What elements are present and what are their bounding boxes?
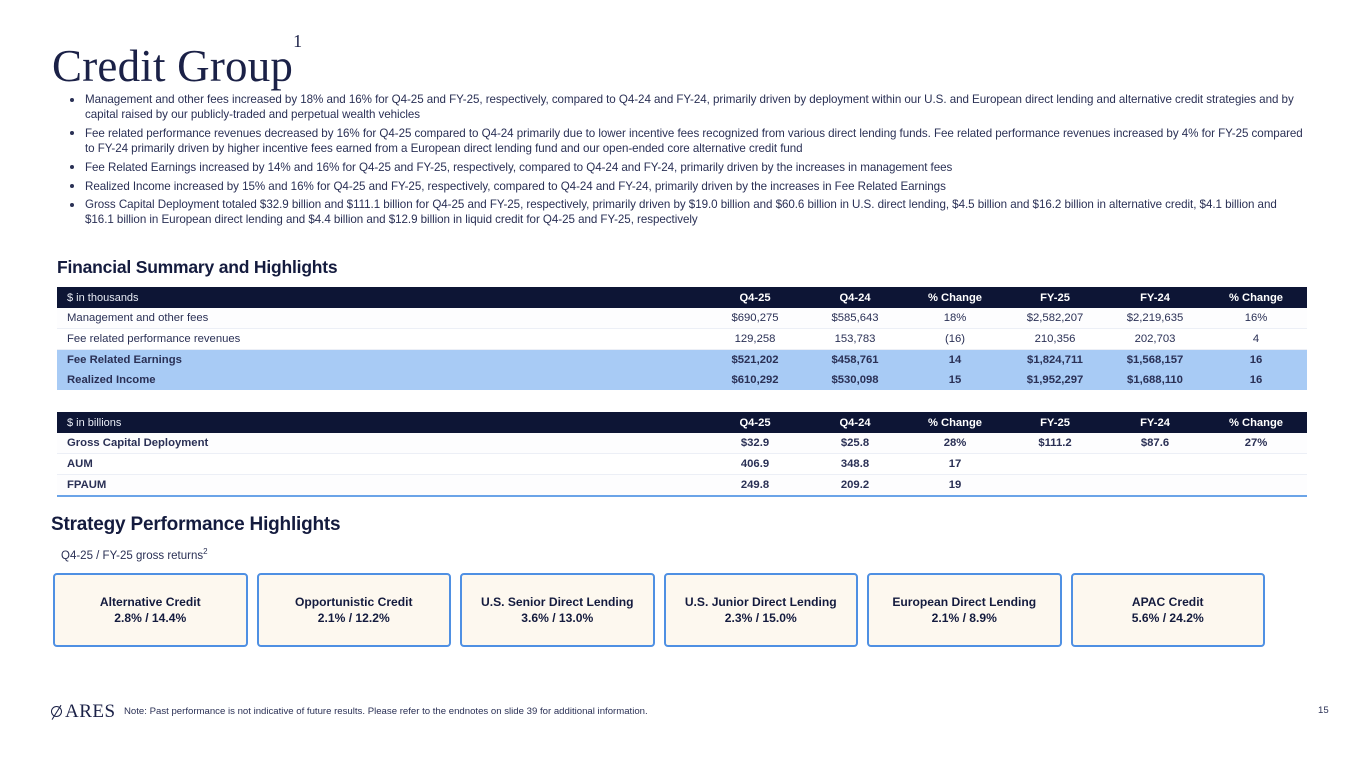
- strategy-card[interactable]: Opportunistic Credit 2.1% / 12.2%: [257, 573, 452, 647]
- strategy-card-returns: 2.8% / 14.4%: [114, 610, 186, 626]
- subtitle-superscript: 2: [203, 547, 207, 556]
- cell: $111.2: [1005, 433, 1105, 454]
- strategy-card[interactable]: Alternative Credit 2.8% / 14.4%: [53, 573, 248, 647]
- cell: $1,688,110: [1105, 370, 1205, 390]
- strategy-card[interactable]: U.S. Senior Direct Lending 3.6% / 13.0%: [460, 573, 655, 647]
- column-header: % Change: [1205, 412, 1307, 433]
- strategy-card-name: U.S. Junior Direct Lending: [685, 594, 837, 610]
- bullet-text: Fee related performance revenues decreas…: [85, 127, 1303, 155]
- bullet-dot-icon: [70, 98, 74, 102]
- cell: [1005, 454, 1105, 475]
- cell: 16: [1205, 350, 1307, 371]
- bullet-dot-icon: [70, 131, 74, 135]
- table-row: Gross Capital Deployment $32.9 $25.8 28%…: [57, 433, 1307, 454]
- financial-summary-table-thousands: $ in thousands Q4-25 Q4-24 % Change FY-2…: [57, 287, 1307, 390]
- cell: $530,098: [805, 370, 905, 390]
- column-header: Q4-25: [705, 412, 805, 433]
- row-label: FPAUM: [57, 475, 705, 497]
- column-header: FY-24: [1105, 412, 1205, 433]
- cell: 16%: [1205, 308, 1307, 329]
- row-label: Realized Income: [57, 370, 705, 390]
- cell: 406.9: [705, 454, 805, 475]
- cell: $1,824,711: [1005, 350, 1105, 371]
- bullet-text: Management and other fees increased by 1…: [85, 93, 1294, 121]
- table-unit-label: $ in thousands: [57, 287, 705, 308]
- cell: 28%: [905, 433, 1005, 454]
- cell: $1,952,297: [1005, 370, 1105, 390]
- cell: $32.9: [705, 433, 805, 454]
- cell: 210,356: [1005, 329, 1105, 350]
- strategy-card-name: Opportunistic Credit: [295, 594, 413, 610]
- cell: 153,783: [805, 329, 905, 350]
- column-header: FY-24: [1105, 287, 1205, 308]
- cell: 14: [905, 350, 1005, 371]
- financial-summary-table-billions: $ in billions Q4-25 Q4-24 % Change FY-25…: [57, 412, 1307, 497]
- bullet-text: Fee Related Earnings increased by 14% an…: [85, 161, 952, 174]
- strategy-card[interactable]: APAC Credit 5.6% / 24.2%: [1071, 573, 1266, 647]
- strategy-performance-heading: Strategy Performance Highlights: [51, 514, 340, 536]
- cell: 202,703: [1105, 329, 1205, 350]
- bullet-dot-icon: [70, 165, 74, 169]
- cell: 19: [905, 475, 1005, 497]
- cell: $690,275: [705, 308, 805, 329]
- cell: 27%: [1205, 433, 1307, 454]
- strategy-card-returns: 2.1% / 12.2%: [318, 610, 390, 626]
- table-row: Realized Income $610,292 $530,098 15 $1,…: [57, 370, 1307, 390]
- column-header: Q4-24: [805, 412, 905, 433]
- cell: 18%: [905, 308, 1005, 329]
- table-header-row: $ in thousands Q4-25 Q4-24 % Change FY-2…: [57, 287, 1307, 308]
- strategy-card-name: U.S. Senior Direct Lending: [481, 594, 634, 610]
- column-header: % Change: [905, 412, 1005, 433]
- row-label: Fee Related Earnings: [57, 350, 705, 371]
- page-title-text: Credit Group: [52, 41, 293, 91]
- strategy-card-returns: 5.6% / 24.2%: [1132, 610, 1204, 626]
- cell: $25.8: [805, 433, 905, 454]
- column-header: % Change: [1205, 287, 1307, 308]
- cell: [1205, 454, 1307, 475]
- list-item: Fee Related Earnings increased by 14% an…: [68, 160, 1308, 175]
- column-header: Q4-24: [805, 287, 905, 308]
- list-item: Gross Capital Deployment totaled $32.9 b…: [68, 197, 1308, 227]
- cell: 249.8: [705, 475, 805, 497]
- slide: Credit Group1 Management and other fees …: [0, 0, 1365, 768]
- cell: $2,219,635: [1105, 308, 1205, 329]
- ares-logo-text: ARES: [65, 701, 116, 723]
- bullet-text: Realized Income increased by 15% and 16%…: [85, 180, 946, 193]
- column-header: % Change: [905, 287, 1005, 308]
- table-row: Fee Related Earnings $521,202 $458,761 1…: [57, 350, 1307, 371]
- cell: $458,761: [805, 350, 905, 371]
- table-row: AUM 406.9 348.8 17: [57, 454, 1307, 475]
- list-item: Realized Income increased by 15% and 16%…: [68, 179, 1308, 194]
- page-title-superscript: 1: [293, 31, 302, 51]
- bullet-list: Management and other fees increased by 1…: [68, 92, 1308, 231]
- strategy-card-returns: 2.3% / 15.0%: [725, 610, 797, 626]
- cell: 15: [905, 370, 1005, 390]
- row-label: Management and other fees: [57, 308, 705, 329]
- page-number: 15: [1318, 705, 1329, 716]
- cell: [1005, 475, 1105, 497]
- cell: [1205, 475, 1307, 497]
- table-row: Management and other fees $690,275 $585,…: [57, 308, 1307, 329]
- cell: $610,292: [705, 370, 805, 390]
- list-item: Management and other fees increased by 1…: [68, 92, 1308, 122]
- cell: $1,568,157: [1105, 350, 1205, 371]
- list-item: Fee related performance revenues decreas…: [68, 126, 1308, 156]
- bullet-text: Gross Capital Deployment totaled $32.9 b…: [85, 198, 1277, 226]
- cell: $2,582,207: [1005, 308, 1105, 329]
- strategy-card-returns: 3.6% / 13.0%: [521, 610, 593, 626]
- row-label: Fee related performance revenues: [57, 329, 705, 350]
- strategy-card[interactable]: U.S. Junior Direct Lending 2.3% / 15.0%: [664, 573, 859, 647]
- page-title: Credit Group1: [52, 33, 302, 92]
- column-header: FY-25: [1005, 412, 1105, 433]
- bullet-dot-icon: [70, 203, 74, 207]
- cell: $87.6: [1105, 433, 1205, 454]
- strategy-performance-subtitle: Q4-25 / FY-25 gross returns2: [61, 547, 208, 562]
- strategy-card-list: Alternative Credit 2.8% / 14.4% Opportun…: [53, 573, 1265, 647]
- cell: 209.2: [805, 475, 905, 497]
- table-row: Fee related performance revenues 129,258…: [57, 329, 1307, 350]
- strategy-card-name: Alternative Credit: [100, 594, 201, 610]
- cell: 16: [1205, 370, 1307, 390]
- table-header-row: $ in billions Q4-25 Q4-24 % Change FY-25…: [57, 412, 1307, 433]
- row-label: Gross Capital Deployment: [57, 433, 705, 454]
- column-header: FY-25: [1005, 287, 1105, 308]
- cell: 17: [905, 454, 1005, 475]
- cell: 4: [1205, 329, 1307, 350]
- cell: 129,258: [705, 329, 805, 350]
- financial-summary-heading: Financial Summary and Highlights: [57, 257, 337, 278]
- cell: [1105, 454, 1205, 475]
- cell: (16): [905, 329, 1005, 350]
- table-unit-label: $ in billions: [57, 412, 705, 433]
- footer-note: Note: Past performance is not indicative…: [124, 706, 648, 717]
- cell: $585,643: [805, 308, 905, 329]
- cell: 348.8: [805, 454, 905, 475]
- slashed-circle-icon: [50, 705, 64, 719]
- row-label: AUM: [57, 454, 705, 475]
- cell: $521,202: [705, 350, 805, 371]
- strategy-card-name: European Direct Lending: [892, 594, 1036, 610]
- subtitle-text: Q4-25 / FY-25 gross returns: [61, 550, 203, 562]
- column-header: Q4-25: [705, 287, 805, 308]
- strategy-card-name: APAC Credit: [1132, 594, 1204, 610]
- strategy-card[interactable]: European Direct Lending 2.1% / 8.9%: [867, 573, 1062, 647]
- cell: [1105, 475, 1205, 497]
- ares-logo: ARES: [50, 701, 116, 723]
- bullet-dot-icon: [70, 184, 74, 188]
- table-row: FPAUM 249.8 209.2 19: [57, 475, 1307, 497]
- strategy-card-returns: 2.1% / 8.9%: [932, 610, 997, 626]
